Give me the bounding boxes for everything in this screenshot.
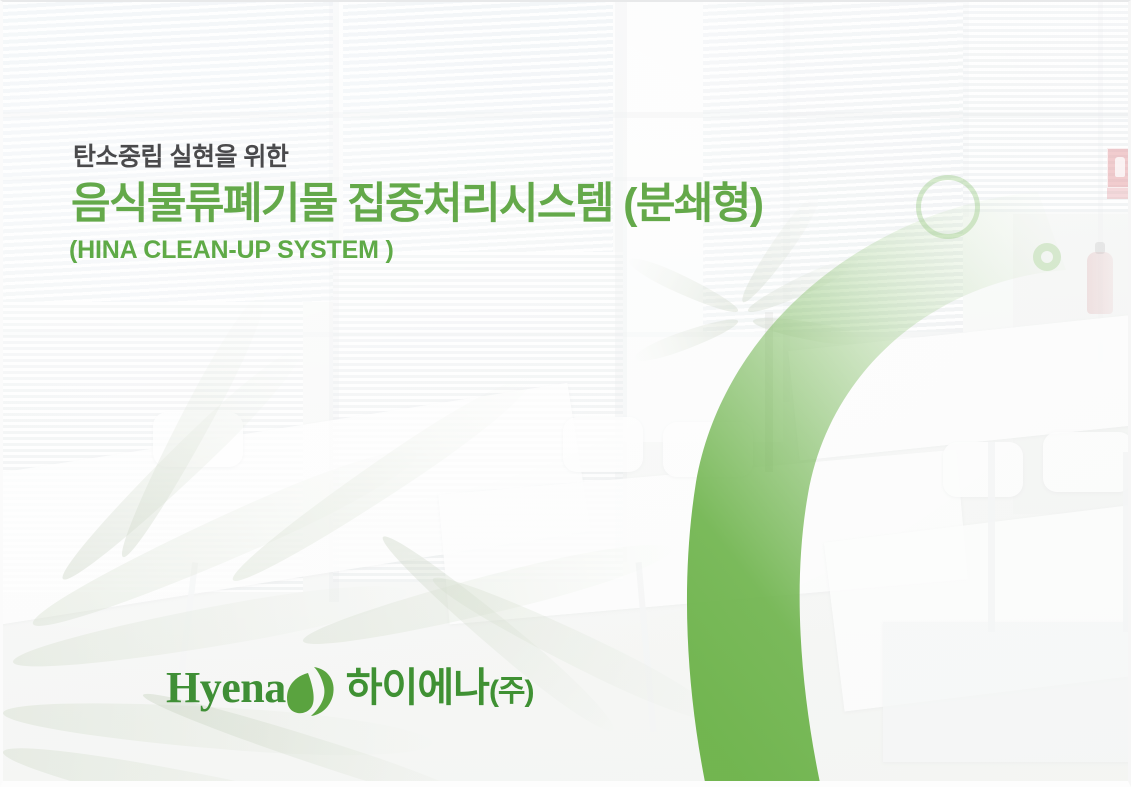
subtitle-text: (HINA CLEAN-UP SYSTEM ) (69, 234, 762, 267)
leaf-left-shape (287, 673, 314, 713)
cover-slide: 탄소중립 실현을 위한 음식물류폐기물 집중처리시스템 (분쇄형) (HINA … (0, 0, 1131, 787)
title-block: 탄소중립 실현을 위한 음식물류폐기물 집중처리시스템 (분쇄형) (HINA … (71, 142, 762, 266)
logo-wordmark: Hyena (166, 666, 286, 710)
leaf-right-shape (311, 667, 334, 716)
logo-korean-name: 하이에나(주) (346, 668, 534, 708)
company-logo: Hyena 하이에나(주) (166, 657, 534, 719)
green-ring-outline-icon (916, 175, 980, 239)
eyebrow-text: 탄소중립 실현을 위한 (73, 142, 762, 173)
page-title: 음식물류폐기물 집중처리시스템 (분쇄형) (71, 179, 762, 230)
hyena-leaf-swoosh-mark-icon (278, 659, 338, 719)
logo-korean-main: 하이에나 (346, 666, 489, 710)
logo-korean-suffix: (주) (489, 675, 534, 708)
